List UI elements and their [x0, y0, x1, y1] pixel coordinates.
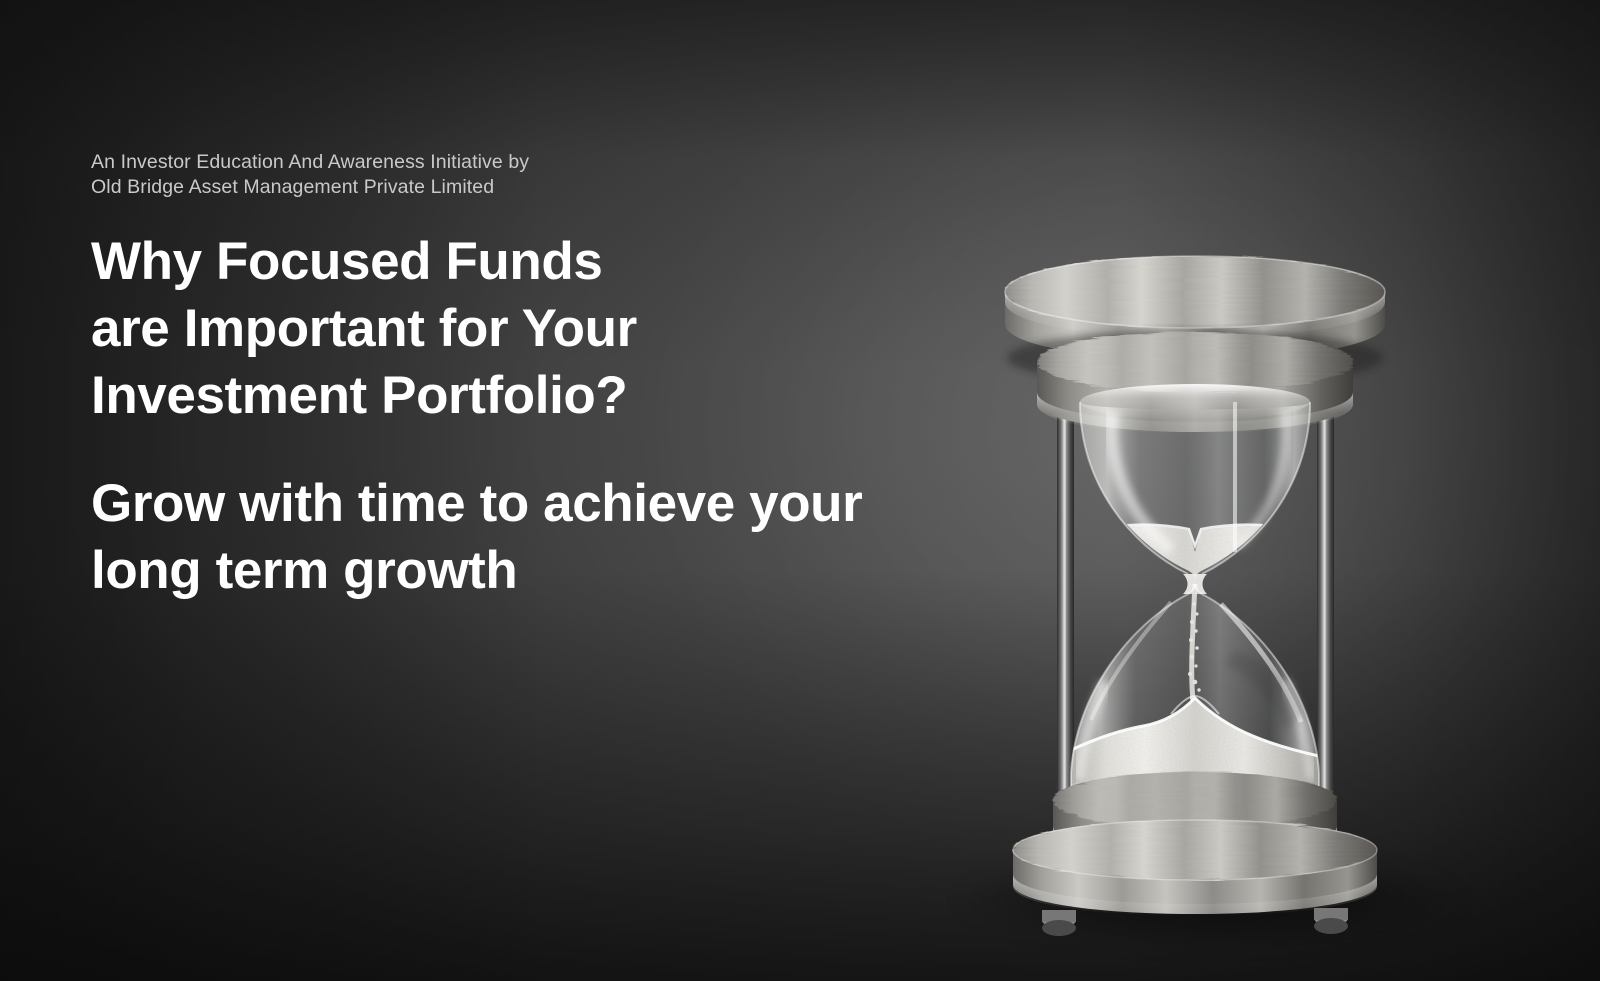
text-content-column: An Investor Education And Awareness Init…	[91, 150, 971, 648]
page-subtitle: Grow with time to achieve your long term…	[91, 470, 971, 604]
hourglass-image	[985, 252, 1405, 902]
page-title: Why Focused Funds are Important for Your…	[91, 228, 971, 429]
bottom-wooden-base	[1013, 772, 1377, 936]
eyebrow-line-1: An Investor Education And Awareness Init…	[91, 150, 971, 175]
headline-line-1: Why Focused Funds	[91, 228, 971, 295]
subhead-line-1: Grow with time to achieve your	[91, 470, 971, 537]
initiative-eyebrow: An Investor Education And Awareness Init…	[91, 150, 971, 200]
poster-canvas: An Investor Education And Awareness Init…	[0, 0, 1600, 981]
eyebrow-line-2: Old Bridge Asset Management Private Limi…	[91, 175, 971, 200]
upper-glass-bulb	[1080, 384, 1310, 606]
headline-line-3: Investment Portfolio?	[91, 362, 971, 429]
headline-line-2: are Important for Your	[91, 295, 971, 362]
subhead-line-2: long term growth	[91, 537, 971, 604]
